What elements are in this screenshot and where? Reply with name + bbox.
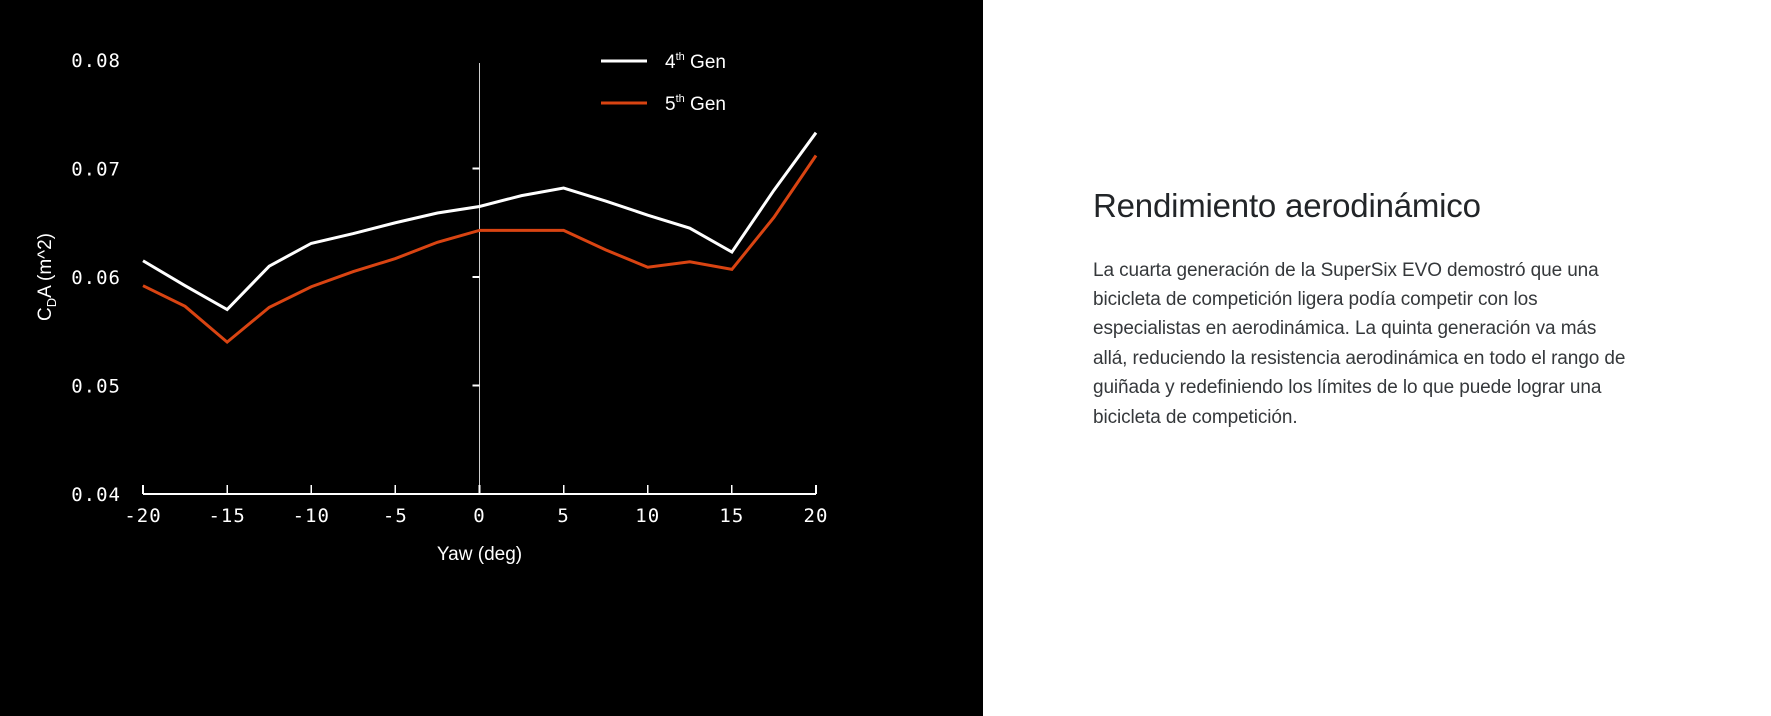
- x-tick-label: 10: [635, 505, 660, 527]
- description-paragraph: La cuarta generación de la SuperSix EVO …: [1093, 256, 1633, 433]
- y-tick-label: 0.04: [71, 484, 121, 506]
- x-axis-title: Yaw (deg): [437, 544, 522, 565]
- x-tick-label: -10: [293, 505, 330, 527]
- x-tick-label: -15: [208, 505, 245, 527]
- x-tick-label: 0: [473, 505, 485, 527]
- x-tick-label: 5: [557, 505, 569, 527]
- y-tick-label: 0.08: [71, 50, 121, 72]
- page-title: Rendimiento aerodinámico: [1093, 186, 1633, 226]
- x-tick-label: 20: [804, 505, 829, 527]
- x-tick-label: 15: [719, 505, 744, 527]
- y-tick-label: 0.05: [71, 376, 121, 398]
- x-axis-tick-marks: [227, 485, 732, 494]
- page-root: 0.040.050.060.070.08 -20-15-10-505101520…: [0, 0, 1771, 716]
- x-axis-tick-labels: -20-15-10-505101520: [124, 505, 828, 527]
- x-tick-label: -20: [124, 505, 161, 527]
- legend-label-1: 4th Gen: [665, 51, 726, 73]
- y-tick-label: 0.07: [71, 159, 121, 181]
- x-tick-label: -5: [383, 505, 408, 527]
- aero-chart-panel: 0.040.050.060.070.08 -20-15-10-505101520…: [0, 0, 983, 716]
- legend-label-2: 5th Gen: [665, 93, 726, 115]
- y-axis-title-text: CDA (m^2): [35, 233, 59, 321]
- description-panel: Rendimiento aerodinámico La cuarta gener…: [983, 0, 1771, 716]
- y-axis-title: CDA (m^2): [35, 233, 59, 321]
- y-tick-label: 0.06: [71, 267, 121, 289]
- aero-line-chart: 0.040.050.060.070.08 -20-15-10-505101520…: [0, 0, 983, 716]
- y-axis-tick-marks: [473, 169, 480, 386]
- y-axis-tick-labels: 0.040.050.060.070.08: [71, 50, 121, 506]
- chart-legend: 4th Gen5th Gen: [601, 51, 726, 115]
- description-inner: Rendimiento aerodinámico La cuarta gener…: [1093, 186, 1633, 432]
